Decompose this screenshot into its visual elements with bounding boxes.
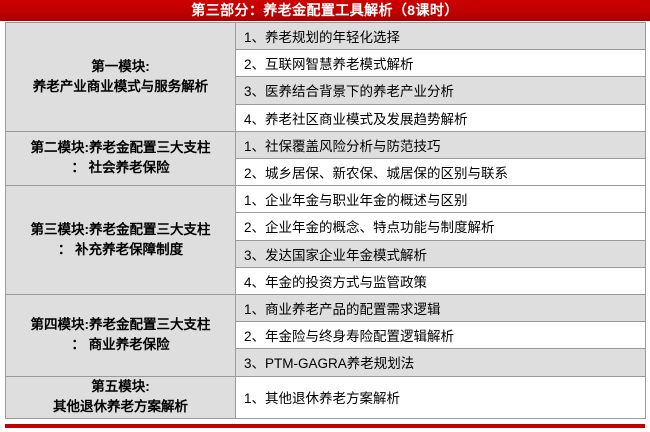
- course-modules-table: 第一模块: 养老产业商业模式与服务解析 1、养老规划的年轻化选择 2、互联网智慧…: [5, 22, 646, 419]
- item-text: 3、发达国家企业年金模式解析: [236, 240, 645, 267]
- item-text: 4、年金的投资方式与监管政策: [236, 267, 645, 294]
- module-title-line: 第四模块:养老金配置三大支柱: [6, 315, 235, 335]
- module-items-cell-3: 1、企业年金与职业年金的概述与区别 2、企业年金的概念、特点功能与制度解析 3、…: [236, 186, 646, 295]
- list-item: 2、互联网智慧养老模式解析: [236, 50, 645, 77]
- table-row: 第五模块: 其他退休养老方案解析 1、其他退休养老方案解析: [6, 376, 646, 418]
- item-text: 1、社保覆盖风险分析与防范技巧: [236, 132, 645, 159]
- module-title-line: ： 补充养老保障制度: [6, 240, 235, 260]
- module-title-line: ： 商业养老保险: [6, 335, 235, 355]
- list-item: 4、年金的投资方式与监管政策: [236, 267, 645, 294]
- section-header-bar: 第三部分：养老金配置工具解析（8课时）: [0, 0, 650, 21]
- module-title-cell-2: 第二模块:养老金配置三大支柱 ： 社会养老保险: [6, 131, 236, 185]
- module-title-line: 其他退休养老方案解析: [6, 397, 235, 417]
- module-items-cell-4: 1、商业养老产品的配置需求逻辑 2、年金险与终身寿险配置逻辑解析 3、PTM-G…: [236, 294, 646, 376]
- list-item: 1、其他退休养老方案解析: [236, 377, 645, 418]
- module-title-cell-1: 第一模块: 养老产业商业模式与服务解析: [6, 23, 236, 132]
- page-title: 第三部分：养老金配置工具解析（8课时）: [0, 0, 650, 21]
- list-item: 3、医养结合背景下的养老产业分析: [236, 77, 645, 104]
- item-text: 2、企业年金的概念、特点功能与制度解析: [236, 213, 645, 240]
- module-items-table-5: 1、其他退休养老方案解析: [236, 377, 645, 418]
- item-text: 1、企业年金与职业年金的概述与区别: [236, 186, 645, 213]
- table-row: 第三模块:养老金配置三大支柱 ： 补充养老保障制度 1、企业年金与职业年金的概述…: [6, 186, 646, 295]
- item-text: 1、商业养老产品的配置需求逻辑: [236, 295, 645, 322]
- list-item: 3、PTM-GAGRA养老规划法: [236, 349, 645, 376]
- item-text: 3、PTM-GAGRA养老规划法: [236, 349, 645, 376]
- module-items-cell-2: 1、社保覆盖风险分析与防范技巧 2、城乡居保、新农保、城居保的区别与联系: [236, 131, 646, 185]
- module-title-line: 第三模块:养老金配置三大支柱: [6, 220, 235, 240]
- module-title-cell-5: 第五模块: 其他退休养老方案解析: [6, 376, 236, 418]
- list-item: 1、企业年金与职业年金的概述与区别: [236, 186, 645, 213]
- item-text: 2、城乡居保、新农保、城居保的区别与联系: [236, 158, 645, 185]
- module-items-cell-1: 1、养老规划的年轻化选择 2、互联网智慧养老模式解析 3、医养结合背景下的养老产…: [236, 23, 646, 132]
- list-item: 4、养老社区商业模式及发展趋势解析: [236, 104, 645, 131]
- module-items-table-1: 1、养老规划的年轻化选择 2、互联网智慧养老模式解析 3、医养结合背景下的养老产…: [236, 23, 645, 131]
- list-item: 2、城乡居保、新农保、城居保的区别与联系: [236, 158, 645, 185]
- module-items-table-4: 1、商业养老产品的配置需求逻辑 2、年金险与终身寿险配置逻辑解析 3、PTM-G…: [236, 295, 645, 376]
- module-title-line: ： 社会养老保险: [6, 158, 235, 178]
- item-text: 2、互联网智慧养老模式解析: [236, 50, 645, 77]
- list-item: 1、商业养老产品的配置需求逻辑: [236, 295, 645, 322]
- item-text: 1、养老规划的年轻化选择: [236, 23, 645, 50]
- module-items-table-3: 1、企业年金与职业年金的概述与区别 2、企业年金的概念、特点功能与制度解析 3、…: [236, 186, 645, 294]
- table-row: 第二模块:养老金配置三大支柱 ： 社会养老保险 1、社保覆盖风险分析与防范技巧 …: [6, 131, 646, 185]
- module-items-table-2: 1、社保覆盖风险分析与防范技巧 2、城乡居保、新农保、城居保的区别与联系: [236, 132, 645, 185]
- module-title-line: 第二模块:养老金配置三大支柱: [6, 138, 235, 158]
- bottom-accent-rule: [5, 424, 645, 428]
- list-item: 2、年金险与终身寿险配置逻辑解析: [236, 322, 645, 349]
- item-text: 3、医养结合背景下的养老产业分析: [236, 77, 645, 104]
- list-item: 1、社保覆盖风险分析与防范技巧: [236, 132, 645, 159]
- module-title-line: 养老产业商业模式与服务解析: [6, 77, 235, 97]
- module-title-cell-3: 第三模块:养老金配置三大支柱 ： 补充养老保障制度: [6, 186, 236, 295]
- item-text: 2、年金险与终身寿险配置逻辑解析: [236, 322, 645, 349]
- list-item: 3、发达国家企业年金模式解析: [236, 240, 645, 267]
- item-text: 4、养老社区商业模式及发展趋势解析: [236, 104, 645, 131]
- course-outline-page: 第三部分：养老金配置工具解析（8课时） 第一模块: 养老产业商业模式与服务解析 …: [0, 0, 650, 432]
- module-title-cell-4: 第四模块:养老金配置三大支柱 ： 商业养老保险: [6, 294, 236, 376]
- item-text: 1、其他退休养老方案解析: [236, 377, 645, 418]
- module-title-line: 第一模块:: [6, 57, 235, 77]
- module-items-cell-5: 1、其他退休养老方案解析: [236, 376, 646, 418]
- module-title-line: 第五模块:: [6, 377, 235, 397]
- table-row: 第四模块:养老金配置三大支柱 ： 商业养老保险 1、商业养老产品的配置需求逻辑 …: [6, 294, 646, 376]
- table-row: 第一模块: 养老产业商业模式与服务解析 1、养老规划的年轻化选择 2、互联网智慧…: [6, 23, 646, 132]
- list-item: 2、企业年金的概念、特点功能与制度解析: [236, 213, 645, 240]
- list-item: 1、养老规划的年轻化选择: [236, 23, 645, 50]
- course-modules-table-wrap: 第一模块: 养老产业商业模式与服务解析 1、养老规划的年轻化选择 2、互联网智慧…: [5, 22, 645, 419]
